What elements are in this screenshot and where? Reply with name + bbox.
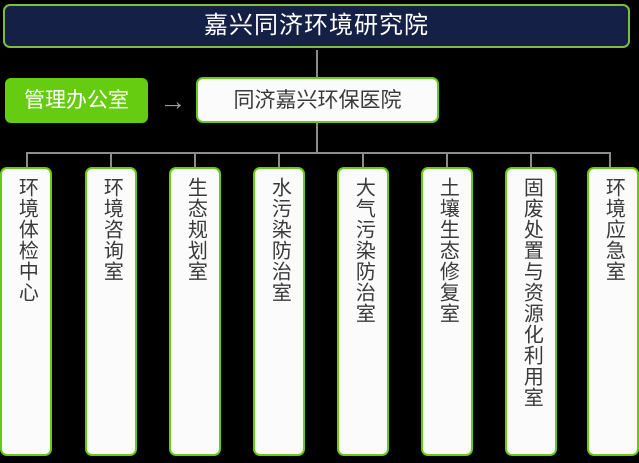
department-label-6: 土壤生态修复室 <box>436 177 459 454</box>
department-label-7: 固废处置与资源化利用室 <box>520 177 543 454</box>
department-box-7[interactable]: 固废处置与资源化利用室 <box>505 167 557 456</box>
institute-title-label: 嘉兴同济环境研究院 <box>204 14 429 38</box>
management-office-label: 管理办公室 <box>24 90 129 111</box>
connector-drop-3 <box>194 152 196 168</box>
department-label-8: 环境应急室 <box>602 177 625 454</box>
hospital-label: 同济嘉兴环保医院 <box>234 90 402 111</box>
department-label-5: 大气污染防治室 <box>352 177 375 454</box>
institute-title-box: 嘉兴同济环境研究院 <box>3 4 630 48</box>
department-label-2: 环境咨询室 <box>100 177 123 454</box>
connector-horizontal-bus <box>27 152 610 154</box>
connector-drop-2 <box>110 152 112 168</box>
department-label-1: 环境体检中心 <box>15 177 38 454</box>
org-chart-canvas: 嘉兴同济环境研究院 管理办公室 → 同济嘉兴环保医院 环境体检中心 环境咨询室 … <box>0 0 639 463</box>
department-box-3[interactable]: 生态规划室 <box>169 167 221 456</box>
department-label-3: 生态规划室 <box>184 177 207 454</box>
connector-drop-8 <box>609 152 611 168</box>
department-box-5[interactable]: 大气污染防治室 <box>337 167 389 456</box>
department-box-2[interactable]: 环境咨询室 <box>85 167 137 456</box>
connector-drop-7 <box>530 152 532 168</box>
connector-title-to-hospital <box>316 50 318 77</box>
department-box-1[interactable]: 环境体检中心 <box>0 167 52 456</box>
arrow-right-icon: → <box>155 86 191 116</box>
department-box-4[interactable]: 水污染防治室 <box>253 167 305 456</box>
management-office-box[interactable]: 管理办公室 <box>5 78 148 123</box>
hospital-box[interactable]: 同济嘉兴环保医院 <box>196 77 439 123</box>
department-label-4: 水污染防治室 <box>268 177 291 454</box>
connector-drop-1 <box>26 152 28 168</box>
department-box-6[interactable]: 土壤生态修复室 <box>421 167 473 456</box>
connector-drop-5 <box>362 152 364 168</box>
department-box-8[interactable]: 环境应急室 <box>587 167 639 456</box>
connector-hospital-to-bus <box>316 123 318 153</box>
connector-drop-6 <box>446 152 448 168</box>
connector-drop-4 <box>278 152 280 168</box>
